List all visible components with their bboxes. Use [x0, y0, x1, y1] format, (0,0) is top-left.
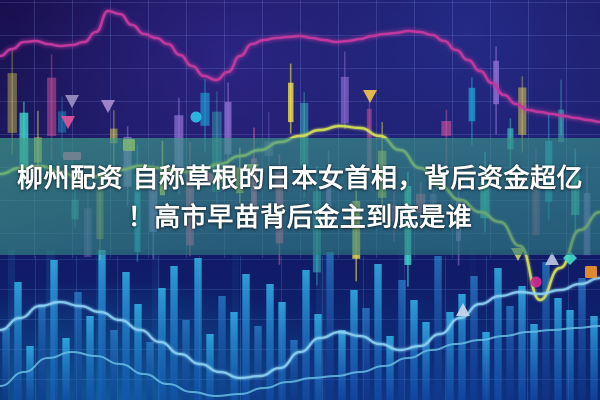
volume-bar: [278, 302, 285, 400]
volume-bar: [350, 290, 357, 400]
volume-bar: [110, 330, 117, 400]
volume-bar: [26, 346, 33, 400]
candle-body: [8, 73, 17, 133]
volume-bar: [218, 296, 225, 400]
chart-marker-triangle-up: [456, 303, 470, 316]
volume-bar: [530, 324, 537, 400]
candle-body: [469, 88, 476, 122]
chart-marker-square: [585, 266, 597, 278]
volume-bar: [566, 310, 573, 400]
magenta-trend-line: [0, 11, 600, 122]
candle-body: [341, 77, 349, 123]
volume-bar: [578, 278, 585, 400]
volume-bar: [362, 308, 369, 400]
volume-bar: [554, 298, 561, 400]
volume-bar: [122, 272, 129, 400]
volume-bar: [38, 304, 45, 400]
headline-line-2: ！高市早苗背后金主到底是谁: [0, 199, 600, 238]
volume-bar: [170, 266, 177, 400]
volume-bar: [422, 322, 429, 400]
volume-bar: [434, 256, 441, 400]
volume-bars: [2, 250, 597, 400]
headline: 柳州配资 自称草根的日本女首相，背后资金超亿 ！高市早苗背后金主到底是谁: [0, 160, 600, 238]
volume-bar: [590, 316, 597, 400]
candle-body: [288, 83, 294, 122]
volume-bar: [74, 292, 81, 400]
volume-bar: [338, 330, 345, 400]
chart-marker-triangle-down: [101, 100, 115, 113]
chart-marker-triangle-down: [65, 95, 79, 108]
candle-body: [47, 78, 56, 136]
volume-bar: [194, 258, 201, 400]
headline-line-1: 柳州配资 自称草根的日本女首相，背后资金超亿: [0, 160, 600, 199]
volume-bar: [302, 270, 309, 400]
volume-bar: [242, 274, 249, 400]
volume-bar: [62, 338, 69, 400]
candle-body: [200, 93, 209, 126]
volume-bar: [494, 268, 501, 400]
volume-bar: [410, 300, 417, 400]
chart-marker-triangle-down: [363, 90, 377, 103]
chart-marker-circle: [191, 112, 202, 123]
banner-image: 柳州配资 自称草根的日本女首相，背后资金超亿 ！高市早苗背后金主到底是谁: [0, 0, 600, 400]
volume-bar: [14, 282, 21, 400]
candle-body: [441, 121, 451, 136]
volume-bar: [374, 264, 381, 400]
volume-bar: [290, 340, 297, 400]
volume-bar: [506, 306, 513, 400]
volume-bar: [518, 286, 525, 400]
chart-marker-circle: [531, 277, 542, 288]
volume-bar: [86, 316, 93, 400]
volume-bar: [482, 332, 489, 400]
volume-bar: [266, 284, 273, 400]
volume-bar: [134, 304, 141, 400]
volume-bar: [182, 320, 189, 400]
candle-body: [518, 88, 526, 135]
volume-bar: [326, 252, 333, 400]
